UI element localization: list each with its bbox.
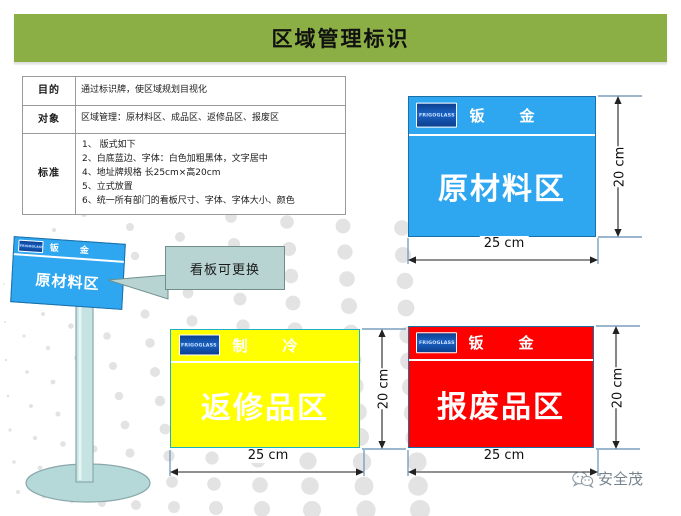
watermark-text: 安全茂	[598, 468, 643, 489]
sign-body: 原材料区	[11, 255, 124, 309]
sign-department-label: 钣 金	[43, 241, 95, 258]
dimension-height-scrap: 20 cm	[596, 324, 640, 451]
sign-body: 报废品区	[409, 361, 593, 447]
frigoglass-logo-icon: FRIGOGLASS	[179, 335, 220, 356]
row-value-target: 区域管理：原材料区、成品区、返修品区、报废区	[76, 105, 346, 134]
standard-line: 1、 版式如下	[82, 139, 339, 153]
row-label-target: 对象	[23, 105, 76, 134]
standard-line: 4、地址牌规格 长25cm×高20cm	[82, 167, 339, 181]
sign-body: 原材料区	[409, 136, 595, 236]
row-label-standard: 标准	[23, 134, 76, 215]
logo-text: FRIGOGLASS	[419, 113, 455, 119]
callout-text: 看板可更换	[190, 259, 260, 278]
sign-board-scrap: FRIGOGLASS 钣 金 报废品区	[408, 326, 594, 448]
page-title: 区域管理标识	[14, 14, 667, 62]
dimension-height-label: 20 cm	[375, 369, 394, 410]
sign-department-label: 钣 金	[458, 332, 543, 353]
sign-area-label: 原材料区	[35, 269, 100, 294]
logo-text: FRIGOGLASS	[19, 244, 43, 249]
sign-department-label: 钣 金	[459, 105, 544, 126]
dimension-width-rework: 25 cm	[168, 450, 368, 478]
callout-leader-line	[108, 275, 170, 301]
page-header-banner: 区域管理标识	[14, 14, 667, 62]
dimension-width-label: 25 cm	[244, 448, 293, 463]
dimension-width-label: 25 cm	[480, 448, 529, 463]
standard-line: 6、统一所有部门的看板尺寸、字体、字体大小、颜色	[82, 195, 339, 209]
header-underline	[14, 62, 667, 65]
dimension-height-raw-material: 20 cm	[598, 94, 642, 239]
sign-header-band: FRIGOGLASS 钣 金	[409, 327, 593, 361]
frigoglass-logo-icon: FRIGOGLASS	[416, 103, 457, 128]
callout-box-replaceable-board: 看板可更换	[165, 246, 285, 290]
sign-department-label: 制 冷	[222, 335, 307, 356]
standard-line: 2、白底蓝边、字体：白色加粗黑体，文字居中	[82, 153, 339, 167]
standard-line: 5、立式放置	[82, 181, 339, 195]
specification-table: 目的 通过标识牌，使区域规划目视化 对象 区域管理：原材料区、成品区、返修品区、…	[22, 76, 346, 215]
sign-area-label: 原材料区	[438, 164, 566, 208]
sign-area-label: 返修品区	[201, 383, 329, 427]
row-value-standard: 1、 版式如下 2、白底蓝边、字体：白色加粗黑体，文字居中 4、地址牌规格 长2…	[76, 134, 346, 215]
wechat-icon	[572, 470, 594, 488]
frigoglass-logo-icon: FRIGOGLASS	[18, 239, 44, 253]
watermark: 安全茂	[572, 468, 643, 489]
sign-header-band: FRIGOGLASS 钣 金	[409, 97, 595, 136]
dimension-height-rework: 20 cm	[362, 327, 406, 451]
logo-text: FRIGOGLASS	[419, 340, 455, 346]
table-row: 目的 通过标识牌，使区域规划目视化	[23, 77, 346, 106]
dimension-height-label: 20 cm	[609, 367, 628, 408]
logo-text: FRIGOGLASS	[181, 343, 217, 349]
sign-header-band: FRIGOGLASS 制 冷	[171, 330, 359, 363]
row-label-purpose: 目的	[23, 77, 76, 106]
row-value-purpose: 通过标识牌，使区域规划目视化	[76, 77, 346, 106]
sign-body: 返修品区	[171, 363, 359, 447]
sign-board-rework: FRIGOGLASS 制 冷 返修品区	[170, 329, 360, 448]
table-row: 对象 区域管理：原材料区、成品区、返修品区、报废区	[23, 105, 346, 134]
sign-board-raw-material: FRIGOGLASS 钣 金 原材料区	[408, 96, 596, 237]
frigoglass-logo-icon: FRIGOGLASS	[416, 332, 457, 354]
dimension-width-raw-material: 25 cm	[406, 238, 602, 266]
dimension-height-label: 20 cm	[611, 146, 630, 187]
sign-area-label: 报废品区	[437, 382, 565, 426]
table-row: 标准 1、 版式如下 2、白底蓝边、字体：白色加粗黑体，文字居中 4、地址牌规格…	[23, 134, 346, 215]
dimension-width-label: 25 cm	[480, 236, 529, 251]
